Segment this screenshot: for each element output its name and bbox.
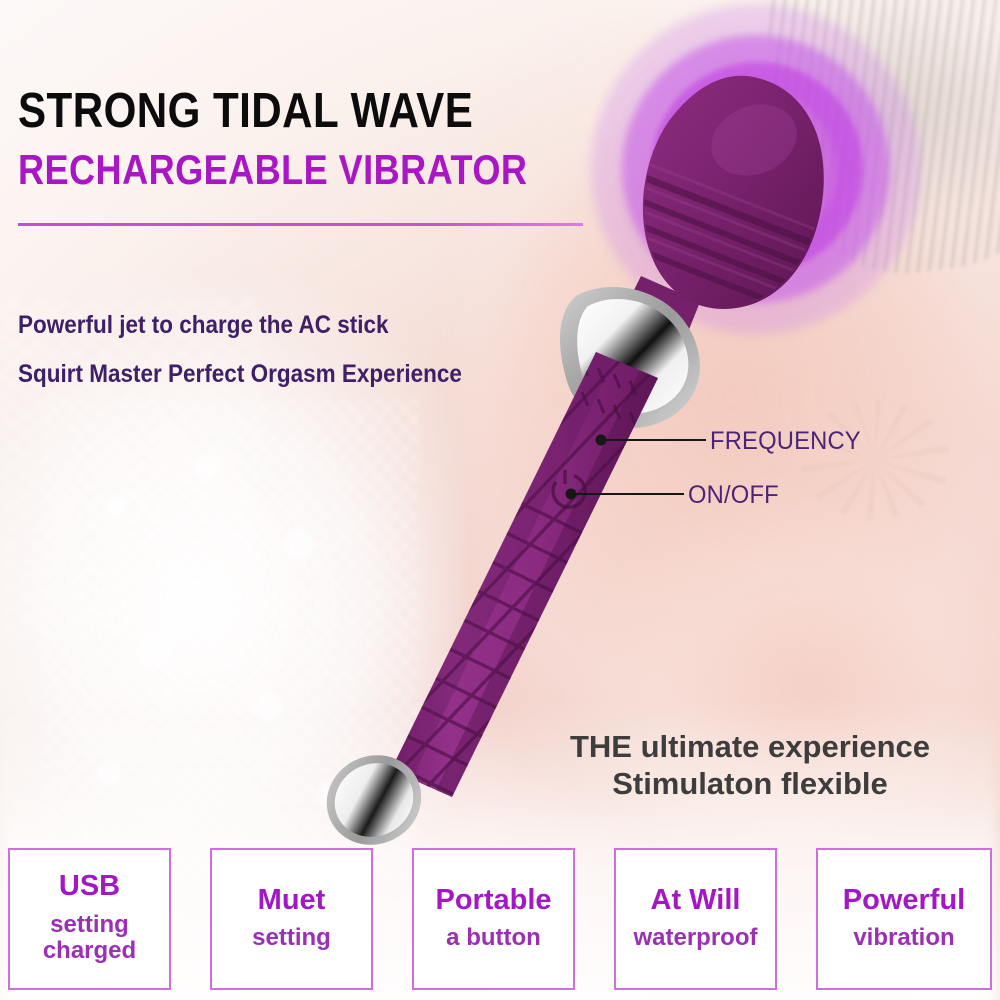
headline-primary: STRONG TIDAL WAVE xyxy=(18,86,473,137)
feature-box-row: USB setting charged Muet setting Portabl… xyxy=(0,848,1000,996)
background-floral-motif xyxy=(800,400,950,520)
tagline-line-2: Stimulaton flexible xyxy=(515,766,985,803)
feature-subtitle-line-1: vibration xyxy=(853,925,954,951)
headline-secondary: RECHARGEABLE VIBRATOR xyxy=(18,148,527,192)
feature-title: At Will xyxy=(651,885,741,915)
feature-box-waterproof[interactable]: At Will waterproof xyxy=(614,848,777,990)
feature-subtitle-line-2: charged xyxy=(43,938,136,964)
feature-subtitle: setting charged xyxy=(43,912,136,965)
callout-label-frequency: FREQUENCY xyxy=(710,427,861,456)
feature-subtitle: setting xyxy=(252,925,331,951)
product-marketing-image: STRONG TIDAL WAVE RECHARGEABLE VIBRATOR … xyxy=(0,0,1000,1000)
feature-box-portable[interactable]: Portable a button xyxy=(412,848,575,990)
feature-subtitle: vibration xyxy=(853,925,954,951)
feature-title: Powerful xyxy=(843,885,965,915)
callout-label-onoff: ON/OFF xyxy=(688,481,779,510)
feature-box-powerful[interactable]: Powerful vibration xyxy=(816,848,992,990)
feature-subtitle-line-1: waterproof xyxy=(633,925,757,951)
feature-subtitle-line-1: setting xyxy=(252,925,331,951)
tagline-line-1: THE ultimate experience xyxy=(515,729,985,766)
feature-subtitle-line-1: a button xyxy=(446,925,541,951)
feature-subtitle: a button xyxy=(446,925,541,951)
feature-box-usb[interactable]: USB setting charged xyxy=(8,848,171,990)
headline-divider xyxy=(18,223,583,226)
feature-title: USB xyxy=(59,871,120,901)
feature-title: Muet xyxy=(258,885,326,915)
subheadline-line-2: Squirt Master Perfect Orgasm Experience xyxy=(18,360,462,389)
tagline: THE ultimate experience Stimulaton flexi… xyxy=(515,729,985,803)
background-lace-fabric-secondary xyxy=(0,300,260,640)
feature-subtitle-line-1: setting xyxy=(43,912,136,938)
feature-subtitle: waterproof xyxy=(633,925,757,951)
vibration-glow-inner-ring xyxy=(651,62,863,274)
feature-box-mute[interactable]: Muet setting xyxy=(210,848,373,990)
feature-title: Portable xyxy=(435,885,551,915)
subheadline-line-1: Powerful jet to charge the AC stick xyxy=(18,311,389,340)
